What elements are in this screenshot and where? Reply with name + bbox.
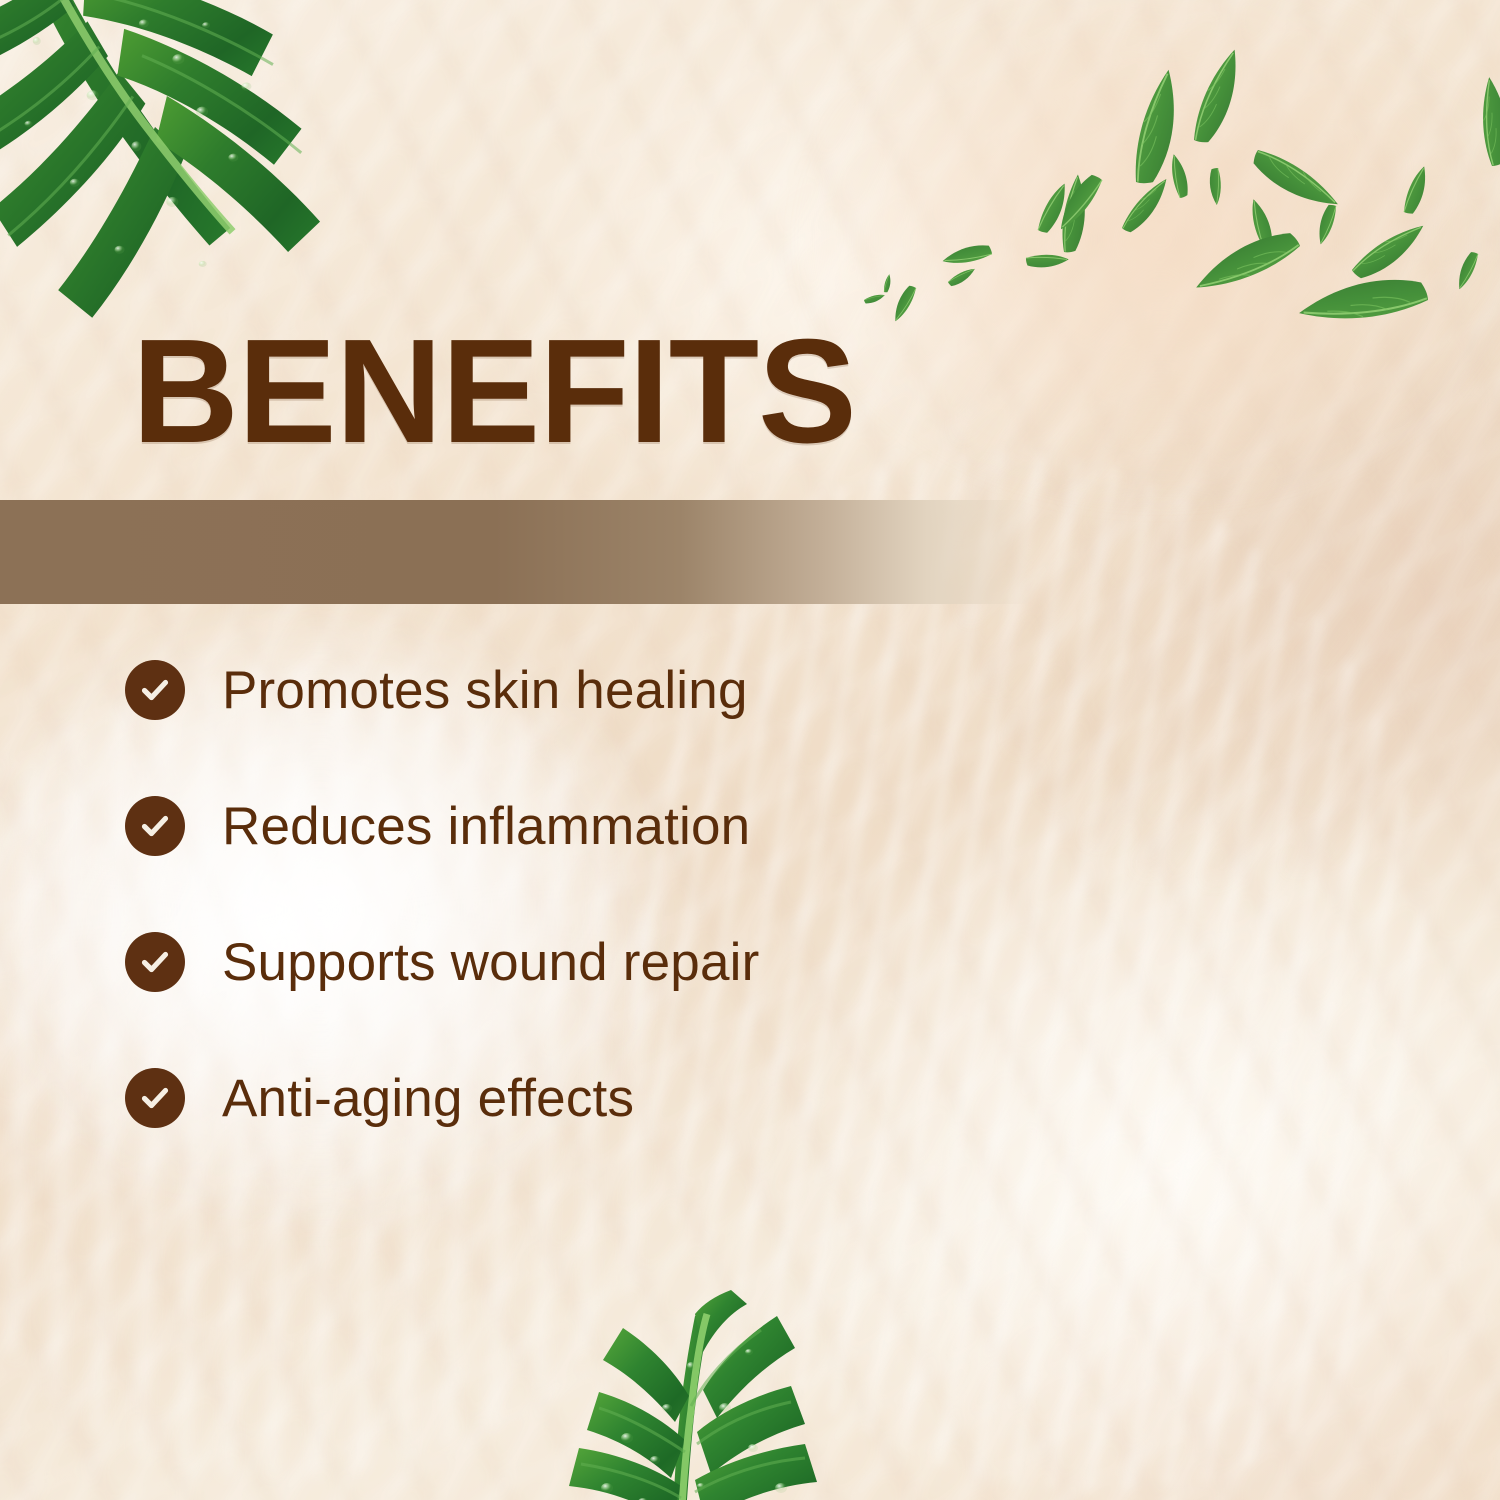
list-item: Anti-aging effects xyxy=(125,1068,1065,1128)
monstera-leaf-icon xyxy=(0,0,356,335)
list-item: Reduces inflammation xyxy=(125,796,1065,856)
list-item-label: Promotes skin healing xyxy=(222,664,748,717)
monstera-leaf-icon xyxy=(495,1290,915,1500)
check-circle-icon xyxy=(125,1068,185,1128)
benefits-list: Promotes skin healing Reduces inflammati… xyxy=(125,660,1065,1204)
background-glow-topright xyxy=(780,0,1500,520)
list-item: Supports wound repair xyxy=(125,932,1065,992)
list-item: Promotes skin healing xyxy=(125,660,1065,720)
list-item-label: Reduces inflammation xyxy=(222,800,750,853)
check-circle-icon xyxy=(125,932,185,992)
benefits-poster: BENEFITS Promotes skin healing Reduces i… xyxy=(0,0,1500,1500)
list-item-label: Anti-aging effects xyxy=(222,1072,634,1125)
title-underline-bar xyxy=(0,500,1030,604)
check-circle-icon xyxy=(125,796,185,856)
check-circle-icon xyxy=(125,660,185,720)
list-item-label: Supports wound repair xyxy=(222,936,759,989)
page-title: BENEFITS xyxy=(132,318,856,466)
